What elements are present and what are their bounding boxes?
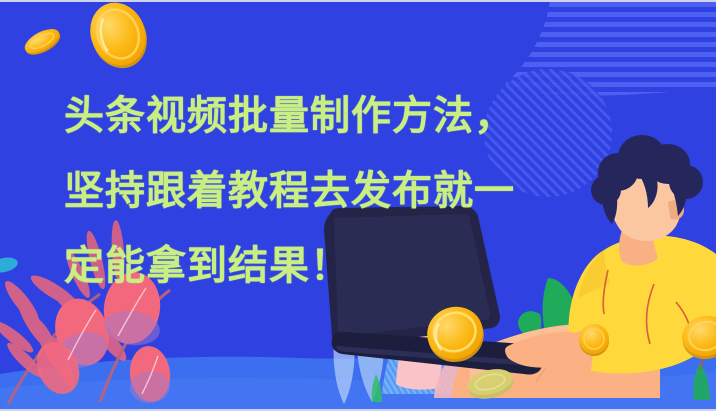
coin-floating-laptop <box>420 300 490 370</box>
coin-edge-right <box>679 312 716 363</box>
coin-small-top-left <box>21 24 64 59</box>
coin-small-hand <box>579 324 609 356</box>
coin-under-laptop <box>465 365 516 403</box>
coin-large-top-left <box>81 2 156 77</box>
coins-layer <box>0 2 716 411</box>
promo-banner: 头条视频批量制作方法， 坚持跟着教程去发布就一 定能拿到结果！ <box>0 0 716 411</box>
